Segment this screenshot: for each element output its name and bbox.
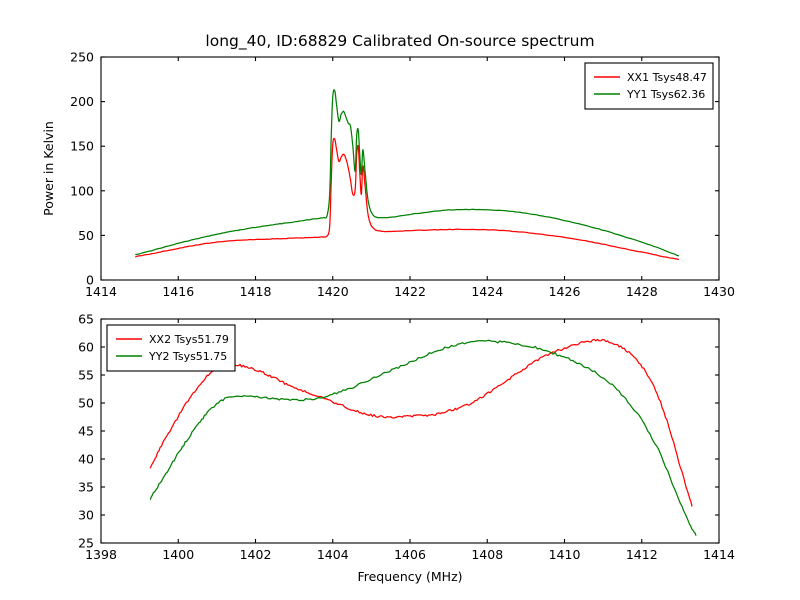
lower-xticklabel: 1408 — [471, 547, 503, 562]
upper-yticklabel: 200 — [70, 94, 94, 109]
lower-xticklabel: 1412 — [626, 547, 658, 562]
lower-legend-label-2: YY2 Tsys51.75 — [148, 350, 227, 363]
matplotlib-figure: long_40, ID:68829 Calibrated On-source s… — [0, 0, 800, 600]
spectrum-plot-canvas: long_40, ID:68829 Calibrated On-source s… — [0, 0, 800, 600]
upper-legend-box — [585, 63, 713, 109]
lower-yticklabel: 25 — [78, 536, 94, 551]
upper-yticklabel: 100 — [70, 183, 94, 198]
lower-yticklabel: 65 — [78, 312, 94, 327]
lower-yticklabel: 55 — [78, 368, 94, 383]
lower-yticklabel: 40 — [78, 452, 94, 467]
upper-legend-label-1: XX1 Tsys48.47 — [627, 71, 707, 84]
upper-xticklabel: 1430 — [703, 284, 735, 299]
lower-yticklabel: 50 — [78, 396, 94, 411]
upper-xticklabel: 1428 — [626, 284, 658, 299]
lower-xticklabel: 1410 — [549, 547, 581, 562]
page-title: long_40, ID:68829 Calibrated On-source s… — [205, 32, 594, 51]
lower-xticklabel: 1406 — [394, 547, 426, 562]
upper-yticklabel: 150 — [70, 139, 94, 154]
upper-xticklabel: 1416 — [162, 284, 194, 299]
upper-xticklabel: 1426 — [549, 284, 581, 299]
lower-yticklabel: 60 — [78, 340, 94, 355]
upper-yticklabel: 0 — [86, 273, 94, 288]
upper-yticklabel: 250 — [70, 50, 94, 65]
lower-legend-label-1: XX2 Tsys51.79 — [149, 333, 229, 346]
lower-yticklabel: 35 — [78, 480, 94, 495]
upper-xticklabel: 1424 — [471, 284, 503, 299]
upper-legend: XX1 Tsys48.47YY1 Tsys62.36 — [585, 63, 713, 109]
lower-legend-box — [107, 325, 235, 371]
upper-ylabel: Power in Kelvin — [41, 121, 56, 216]
lower-xticklabel: 1402 — [240, 547, 272, 562]
upper-yticklabel: 50 — [78, 228, 94, 243]
lower-yticklabel: 30 — [78, 508, 94, 523]
lower-legend: XX2 Tsys51.79YY2 Tsys51.75 — [107, 325, 235, 371]
upper-xticklabel: 1420 — [317, 284, 349, 299]
upper-legend-label-2: YY1 Tsys62.36 — [626, 88, 705, 101]
lower-xlabel: Frequency (MHz) — [357, 569, 462, 584]
lower-xticklabel: 1400 — [162, 547, 194, 562]
upper-xticklabel: 1422 — [394, 284, 426, 299]
lower-xticklabel: 1414 — [703, 547, 735, 562]
lower-xticklabel: 1404 — [317, 547, 349, 562]
lower-yticklabel: 45 — [78, 424, 94, 439]
upper-xticklabel: 1418 — [240, 284, 272, 299]
